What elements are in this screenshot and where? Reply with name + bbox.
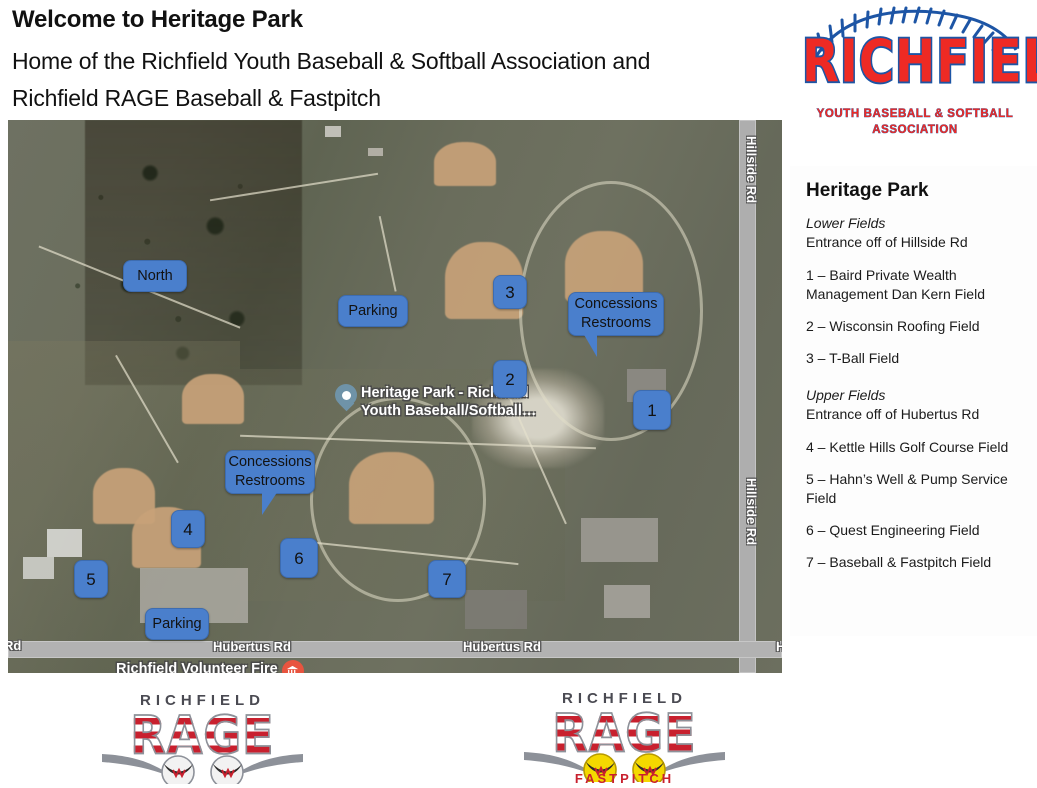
road-label-hillside-top: Hillside Rd — [744, 136, 759, 203]
road-label-hubertus-edge: H — [776, 639, 782, 654]
richfield-youth-baseball-softball-association-logo: RICHFIELD YOUTH BASEBALL & SOFTBALL ASSO… — [800, 4, 1030, 154]
map-marker-field-4-label: 4 — [183, 520, 192, 539]
map-marker-field-5-label: 5 — [86, 570, 95, 589]
callout-pointer-icon — [262, 491, 278, 515]
road-label-hillside-bottom: Hillside Rd — [744, 478, 759, 545]
field-entry-5: 5 – Hahn’s Well & Pump Service Field — [806, 470, 1025, 508]
field-entry-2: 2 – Wisconsin Roofing Field — [806, 317, 1025, 336]
page-title: Welcome to Heritage Park — [12, 6, 303, 34]
map-trail-6 — [115, 354, 179, 462]
bank-building-icon — [286, 665, 299, 674]
map-marker-parking-top[interactable]: Parking — [338, 295, 408, 327]
map-building-e — [23, 557, 54, 579]
richfield-rage-baseball-logo: RICHFIELD RAGE — [100, 688, 305, 788]
rybsa-wordmark: RICHFIELD — [802, 28, 1028, 96]
map-marker-parking-middle[interactable]: Parking — [145, 608, 209, 640]
map-marker-field-4[interactable]: 4 — [171, 510, 205, 548]
map-marker-field-1[interactable]: 1 — [633, 390, 671, 430]
map-marker-field-7-label: 7 — [442, 570, 451, 589]
map-building-h — [604, 585, 650, 618]
page-header: Welcome to Heritage Park Home of the Ric… — [0, 0, 790, 118]
map-trail-3 — [378, 216, 396, 292]
crossed-bats-baseball-icon — [100, 750, 305, 784]
page-subtitle-line-1: Home of the Richfield Youth Baseball & S… — [12, 48, 650, 75]
road-label-hubertus-right: Hubertus Rd — [463, 639, 541, 654]
lower-fields-title: Lower Fields — [806, 214, 1025, 233]
rybsa-subtitle-line-2: ASSOCIATION — [800, 124, 1030, 136]
map-marker-concessions-restrooms-upper[interactable]: Concessions Restrooms — [225, 450, 315, 494]
map-marker-concessions-left-line-1: Concessions — [228, 453, 311, 472]
map-marker-field-6-label: 6 — [294, 549, 303, 568]
map-marker-concessions-left-line-2: Restrooms — [228, 472, 311, 491]
map-building-i — [325, 126, 340, 137]
map-marker-field-2[interactable]: 2 — [493, 360, 527, 398]
map-marker-concessions-top-line-2: Restrooms — [574, 314, 657, 333]
rage-fastpitch-bottom-text: FASTPITCH — [522, 771, 727, 786]
upper-fields-title: Upper Fields — [806, 386, 1025, 405]
road-label-hubertus-left: Rd — [8, 638, 21, 653]
upper-fields-entrance: Entrance off of Hubertus Rd — [806, 405, 1025, 424]
poi-heritage-label-line-2: Youth Baseball/Softball… — [361, 402, 536, 420]
satellite-map[interactable]: Hillside Rd Hillside Rd Rd Hubertus Rd H… — [8, 120, 782, 673]
map-marker-parking-top-label: Parking — [348, 302, 397, 321]
page-subtitle-line-2: Richfield RAGE Baseball & Fastpitch — [12, 85, 381, 112]
field-entry-3: 3 – T-Ball Field — [806, 349, 1025, 368]
map-marker-parking-middle-label: Parking — [152, 615, 201, 634]
map-building-c — [581, 518, 658, 562]
map-marker-field-3[interactable]: 3 — [493, 275, 527, 309]
map-marker-field-2-label: 2 — [505, 370, 514, 389]
map-infield-4 — [182, 374, 244, 424]
sidebar-heading: Heritage Park — [806, 180, 1025, 202]
map-building-a — [368, 148, 383, 157]
poi-fire-station[interactable]: Richfield Volunteer Fire Company: Statio… — [116, 660, 304, 673]
richfield-rage-fastpitch-logo: RICHFIELD RAGE FASTPITCH — [522, 686, 727, 786]
field-entry-4: 4 – Kettle Hills Golf Course Field — [806, 438, 1025, 457]
rybsa-subtitle-line-1: YOUTH BASEBALL & SOFTBALL — [800, 108, 1030, 120]
sidebar-lower-fields-group: Lower Fields Entrance off of Hillside Rd — [806, 214, 1025, 252]
map-marker-field-1-label: 1 — [647, 401, 656, 420]
map-marker-concessions-restrooms-lower[interactable]: Concessions Restrooms — [568, 292, 664, 336]
road-label-hubertus-mid: Hubertus Rd — [213, 639, 291, 654]
lower-fields-entrance: Entrance off of Hillside Rd — [806, 233, 1025, 252]
heritage-park-info-panel: Heritage Park Lower Fields Entrance off … — [790, 166, 1037, 636]
map-woods-texture — [85, 120, 302, 385]
map-building-d — [47, 529, 82, 557]
map-marker-field-7[interactable]: 7 — [428, 560, 466, 598]
map-trail-2 — [210, 173, 378, 202]
field-entry-1: 1 – Baird Private Wealth Management Dan … — [806, 266, 1025, 304]
map-marker-field-3-label: 3 — [505, 283, 514, 302]
map-marker-north-label: North — [137, 267, 172, 286]
map-marker-north[interactable]: North — [123, 260, 187, 292]
callout-pointer-icon — [583, 333, 597, 357]
field-entry-7: 7 – Baseball & Fastpitch Field — [806, 553, 1025, 572]
civic-building-pin-icon — [282, 660, 304, 673]
sidebar-upper-fields-group: Upper Fields Entrance off of Hubertus Rd — [806, 386, 1025, 424]
map-pin-icon — [335, 384, 357, 414]
map-infield-3 — [434, 142, 496, 186]
map-road-hubertus — [8, 641, 782, 658]
poi-fire-label-line-1: Richfield Volunteer Fire — [116, 660, 278, 673]
field-entry-6: 6 – Quest Engineering Field — [806, 521, 1025, 540]
map-building-g — [465, 590, 527, 629]
map-marker-field-6[interactable]: 6 — [280, 538, 318, 578]
map-marker-field-5[interactable]: 5 — [74, 560, 108, 598]
map-marker-concessions-top-line-1: Concessions — [574, 295, 657, 314]
